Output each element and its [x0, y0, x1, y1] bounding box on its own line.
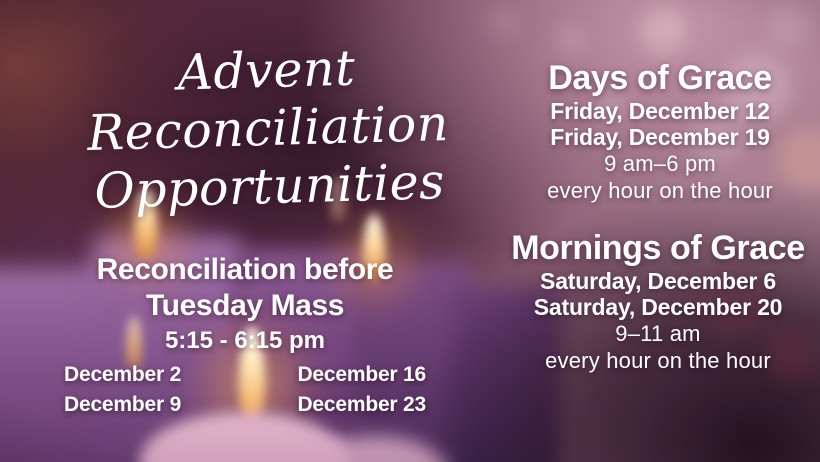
front-candle-top-secondary	[300, 436, 450, 462]
bokeh-circle-7	[556, 24, 586, 54]
tuesday-mass-date-right-2: December 23	[297, 392, 426, 418]
bokeh-circle-6	[766, 4, 810, 48]
tuesday-mass-date-left-2: December 9	[64, 392, 181, 418]
tuesday-mass-date-grid: December 2 December 9 December 16 Decemb…	[40, 362, 450, 418]
days-of-grace-frequency: every hour on the hour	[500, 177, 820, 204]
mornings-of-grace-heading: Mornings of Grace	[496, 228, 820, 268]
days-of-grace-heading: Days of Grace	[500, 58, 820, 98]
poster-title: Advent Reconciliation Opportunities	[16, 35, 521, 223]
tuesday-mass-section: Reconciliation before Tuesday Mass 5:15 …	[40, 252, 450, 418]
mornings-of-grace-date-1: Saturday, December 6	[496, 268, 820, 294]
tuesday-mass-date-left-1: December 2	[64, 362, 181, 388]
days-of-grace-date-2: Friday, December 19	[500, 124, 820, 150]
tuesday-mass-heading-line1: Reconciliation before	[40, 252, 450, 288]
bokeh-circle-1	[640, 8, 686, 54]
advent-reconciliation-poster: Advent Reconciliation Opportunities Days…	[0, 0, 820, 462]
days-of-grace-time: 9 am–6 pm	[500, 150, 820, 177]
days-of-grace-date-1: Friday, December 12	[500, 98, 820, 124]
tuesday-mass-dates-left-column: December 2 December 9	[64, 362, 181, 418]
mornings-of-grace-time: 9–11 am	[496, 320, 820, 347]
mornings-of-grace-frequency: every hour on the hour	[496, 347, 820, 374]
tuesday-mass-heading-line2: Tuesday Mass	[40, 288, 450, 324]
mornings-of-grace-section: Mornings of Grace Saturday, December 6 S…	[496, 228, 820, 374]
front-candle-top-primary	[140, 412, 350, 462]
mornings-of-grace-date-2: Saturday, December 20	[496, 294, 820, 320]
tuesday-mass-dates-right-column: December 16 December 23	[297, 362, 426, 418]
tuesday-mass-time: 5:15 - 6:15 pm	[40, 326, 450, 356]
days-of-grace-section: Days of Grace Friday, December 12 Friday…	[500, 58, 820, 204]
tuesday-mass-date-right-1: December 16	[297, 362, 426, 388]
bokeh-circle-10	[486, 4, 520, 38]
